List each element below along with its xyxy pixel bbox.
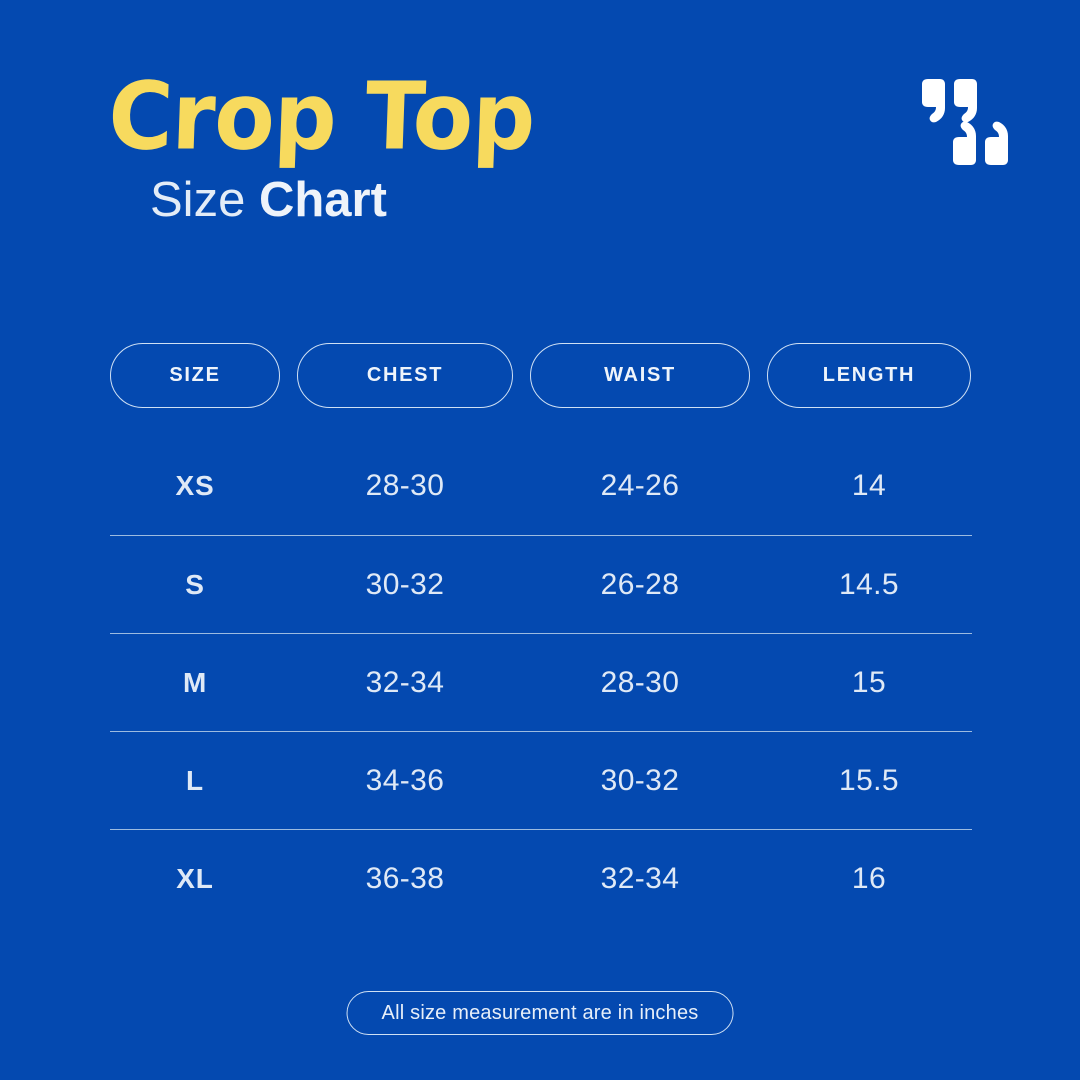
page-subtitle: Size Chart	[150, 176, 387, 225]
cell-size: S	[110, 569, 280, 601]
cell-chest: 32-34	[297, 666, 513, 700]
quotation-marks-logo	[920, 78, 1010, 166]
cell-size: XL	[110, 863, 280, 895]
cell-size: L	[110, 765, 280, 797]
cell-length: 15.5	[767, 764, 971, 798]
cell-waist: 26-28	[530, 568, 750, 602]
cell-chest: 34-36	[297, 764, 513, 798]
header: Crop Top Size Chart	[0, 0, 1080, 300]
page-title: Crop Top	[107, 72, 536, 162]
table-row: M 32-34 28-30 15	[110, 633, 972, 731]
column-header-chest: CHEST	[297, 343, 513, 408]
cell-length: 14.5	[767, 568, 971, 602]
table-row: L 34-36 30-32 15.5	[110, 731, 972, 829]
table-header-row: SIZE CHEST WAIST LENGTH	[110, 343, 972, 408]
table-row: XS 28-30 24-26 14	[110, 437, 972, 535]
cell-length: 14	[767, 469, 971, 503]
size-chart-table: SIZE CHEST WAIST LENGTH XS 28-30 24-26 1…	[110, 343, 972, 927]
quote-icon	[920, 78, 1010, 166]
cell-chest: 28-30	[297, 469, 513, 503]
cell-waist: 28-30	[530, 666, 750, 700]
cell-chest: 36-38	[297, 862, 513, 896]
cell-size: M	[110, 667, 280, 699]
cell-chest: 30-32	[297, 568, 513, 602]
table-row: S 30-32 26-28 14.5	[110, 535, 972, 633]
table-row: XL 36-38 32-34 16	[110, 829, 972, 927]
cell-size: XS	[110, 470, 280, 502]
measurement-unit-note: All size measurement are in inches	[347, 991, 734, 1035]
cell-length: 15	[767, 666, 971, 700]
cell-waist: 32-34	[530, 862, 750, 896]
title-block: Crop Top	[110, 72, 536, 156]
subtitle-size-word: Size	[150, 173, 259, 227]
cell-waist: 30-32	[530, 764, 750, 798]
column-header-waist: WAIST	[530, 343, 750, 408]
cell-waist: 24-26	[530, 469, 750, 503]
cell-length: 16	[767, 862, 971, 896]
column-header-size: SIZE	[110, 343, 280, 408]
subtitle-chart-word: Chart	[259, 173, 387, 227]
table-body: XS 28-30 24-26 14 S 30-32 26-28 14.5 M 3…	[110, 437, 972, 927]
column-header-length: LENGTH	[767, 343, 971, 408]
